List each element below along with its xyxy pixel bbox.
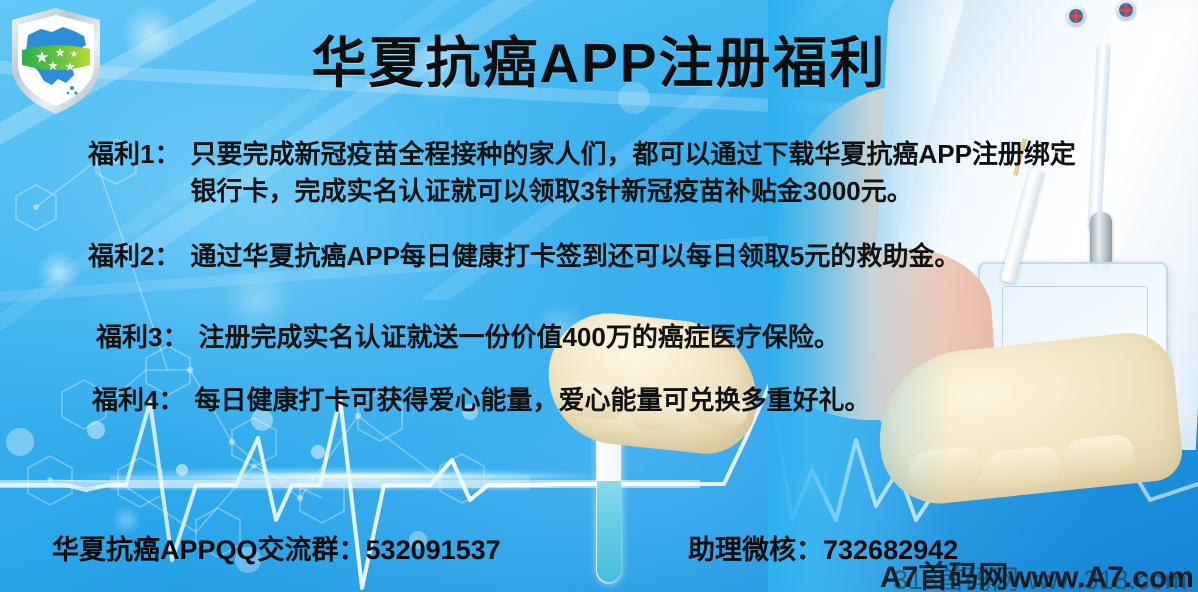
benefit-text-2: 通过华夏抗癌APP每日健康打卡签到还可以每日领取5元的救助金。	[190, 238, 1088, 275]
light-streak-core	[120, 470, 640, 482]
qq-group-label: 华夏抗癌APPQQ交流群：	[52, 535, 366, 565]
qq-group-contact: 华夏抗癌APPQQ交流群：532091537	[52, 528, 501, 567]
lanyard-clip	[1090, 212, 1112, 270]
glove-finger	[985, 445, 1063, 491]
benefit-label-1: 福利1：	[88, 136, 190, 173]
uniform-button-right	[1116, 0, 1136, 20]
qq-group-number: 532091537	[366, 535, 501, 565]
wechat-label: 助理微核：	[688, 535, 823, 565]
benefit-item-3: 福利3： 注册完成实名认证就送一份价值400万的癌症医疗保险。	[96, 319, 1088, 356]
contact-footer: 华夏抗癌APPQQ交流群：532091537 助理微核：732682942	[0, 528, 1198, 574]
wechat-contact: 助理微核：732682942	[688, 528, 958, 567]
benefit-label-3: 福利3：	[96, 319, 198, 356]
page-title: 华夏抗癌APP注册福利	[0, 18, 1198, 98]
benefit-label-2: 福利2：	[88, 238, 190, 275]
benefit-item-2: 福利2： 通过华夏抗癌APP每日健康打卡签到还可以每日领取5元的救助金。	[88, 238, 1088, 275]
benefit-item-1: 福利1： 只要完成新冠疫苗全程接种的家人们，都可以通过下载华夏抗癌APP注册绑定…	[88, 136, 1088, 210]
benefit-item-4: 福利4： 每日健康打卡可获得爱心能量，爱心能量可兑换多重好礼。	[92, 382, 1088, 419]
benefit-text-4: 每日健康打卡可获得爱心能量，爱心能量可兑换多重好礼。	[194, 382, 1088, 419]
benefit-text-1: 只要完成新冠疫苗全程接种的家人们，都可以通过下载华夏抗癌APP注册绑定银行卡，完…	[190, 136, 1088, 210]
poster-canvas: SAMPLE	[0, 0, 1198, 592]
benefits-list: 福利1： 只要完成新冠疫苗全程接种的家人们，都可以通过下载华夏抗癌APP注册绑定…	[88, 136, 1088, 443]
benefit-label-4: 福利4：	[92, 382, 194, 419]
wechat-number: 732682942	[823, 535, 958, 565]
benefit-text-3: 注册完成实名认证就送一份价值400万的癌症医疗保险。	[198, 319, 1088, 356]
glove-finger	[907, 445, 985, 493]
